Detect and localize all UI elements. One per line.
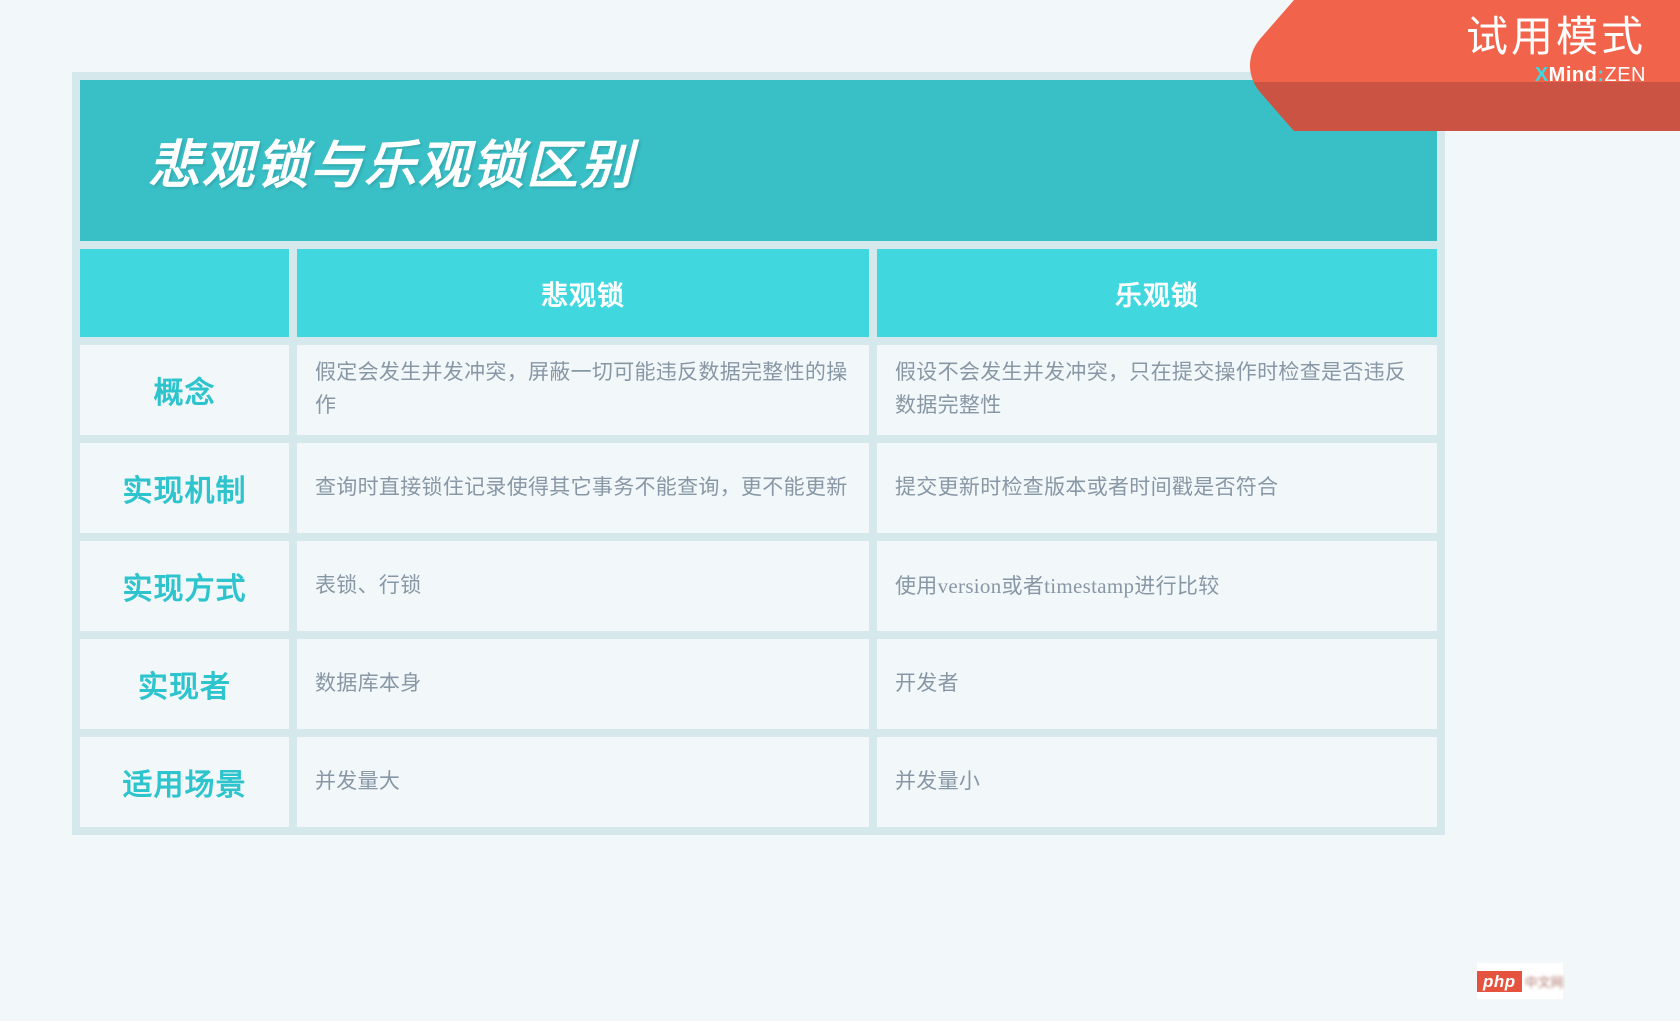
php-watermark: php 中文网 (1477, 963, 1563, 999)
xmind-brand: XMind:ZEN (1466, 64, 1646, 87)
row-label: 适用场景 (123, 760, 247, 804)
row-cell-pessimistic: 数据库本身 (297, 639, 869, 729)
comparison-table: 悲观锁与乐观锁区别 悲观锁 乐观锁 概念 假定会发生并发冲突，屏蔽一切可能违反数… (72, 72, 1445, 835)
cell-text: 数据库本身 (315, 668, 422, 701)
table-row: 实现者 数据库本身 开发者 (80, 639, 1437, 729)
row-cell-pessimistic: 并发量大 (297, 737, 869, 827)
header-cell-optimistic: 乐观锁 (877, 249, 1437, 337)
row-label-cell: 实现者 (80, 639, 289, 729)
row-cell-optimistic: 假设不会发生并发冲突，只在提交操作时检查是否违反数据完整性 (877, 345, 1437, 435)
header-cell-pessimistic: 悲观锁 (297, 249, 869, 337)
table-header-row: 悲观锁 乐观锁 (80, 249, 1437, 337)
row-label: 实现方式 (123, 564, 247, 608)
php-watermark-text: 中文网 (1525, 972, 1564, 991)
row-label: 实现机制 (123, 466, 247, 510)
header-cell-corner (80, 249, 289, 337)
header-label-optimistic: 乐观锁 (1115, 274, 1199, 313)
page-title: 悲观锁与乐观锁区别 (148, 123, 634, 198)
php-logo-badge: php (1477, 971, 1522, 992)
ribbon-text-group: 试用模式 XMind:ZEN (1466, 14, 1646, 87)
cell-text: 并发量小 (895, 766, 980, 799)
table-body: 概念 假定会发生并发冲突，屏蔽一切可能违反数据完整性的操作 假设不会发生并发冲突… (80, 345, 1437, 827)
cell-text: 查询时直接锁住记录使得其它事务不能查询，更不能更新 (315, 472, 848, 505)
cell-text: 提交更新时检查版本或者时间戳是否符合 (895, 472, 1278, 505)
table-inner: 悲观锁与乐观锁区别 悲观锁 乐观锁 概念 假定会发生并发冲突，屏蔽一切可能违反数… (80, 80, 1437, 827)
slide-title-band: 悲观锁与乐观锁区别 (80, 80, 1437, 241)
row-cell-pessimistic: 表锁、行锁 (297, 541, 869, 631)
cell-text: 使用version或者timestamp进行比较 (895, 570, 1220, 603)
row-label-cell: 实现方式 (80, 541, 289, 631)
brand-colon: : (1597, 64, 1604, 86)
brand-zen: ZEN (1605, 64, 1647, 86)
header-label-pessimistic: 悲观锁 (541, 274, 625, 313)
row-label: 实现者 (138, 662, 231, 706)
table-row: 概念 假定会发生并发冲突，屏蔽一切可能违反数据完整性的操作 假设不会发生并发冲突… (80, 345, 1437, 435)
table-row: 适用场景 并发量大 并发量小 (80, 737, 1437, 827)
row-label-cell: 适用场景 (80, 737, 289, 827)
cell-text: 表锁、行锁 (315, 570, 422, 603)
row-cell-pessimistic: 查询时直接锁住记录使得其它事务不能查询，更不能更新 (297, 443, 869, 533)
cell-text: 假定会发生并发冲突，屏蔽一切可能违反数据完整性的操作 (315, 357, 851, 422)
brand-mind: Mind (1549, 64, 1598, 86)
row-cell-pessimistic: 假定会发生并发冲突，屏蔽一切可能违反数据完整性的操作 (297, 345, 869, 435)
cell-text: 假设不会发生并发冲突，只在提交操作时检查是否违反数据完整性 (895, 357, 1419, 422)
row-cell-optimistic: 并发量小 (877, 737, 1437, 827)
row-cell-optimistic: 使用version或者timestamp进行比较 (877, 541, 1437, 631)
row-label: 概念 (154, 368, 216, 412)
brand-x: X (1535, 64, 1549, 86)
trial-mode-label: 试用模式 (1466, 14, 1646, 60)
table-row: 实现方式 表锁、行锁 使用version或者timestamp进行比较 (80, 541, 1437, 631)
row-label-cell: 概念 (80, 345, 289, 435)
cell-text: 开发者 (895, 668, 959, 701)
row-cell-optimistic: 提交更新时检查版本或者时间戳是否符合 (877, 443, 1437, 533)
table-row: 实现机制 查询时直接锁住记录使得其它事务不能查询，更不能更新 提交更新时检查版本… (80, 443, 1437, 533)
cell-text: 并发量大 (315, 766, 400, 799)
row-cell-optimistic: 开发者 (877, 639, 1437, 729)
row-label-cell: 实现机制 (80, 443, 289, 533)
